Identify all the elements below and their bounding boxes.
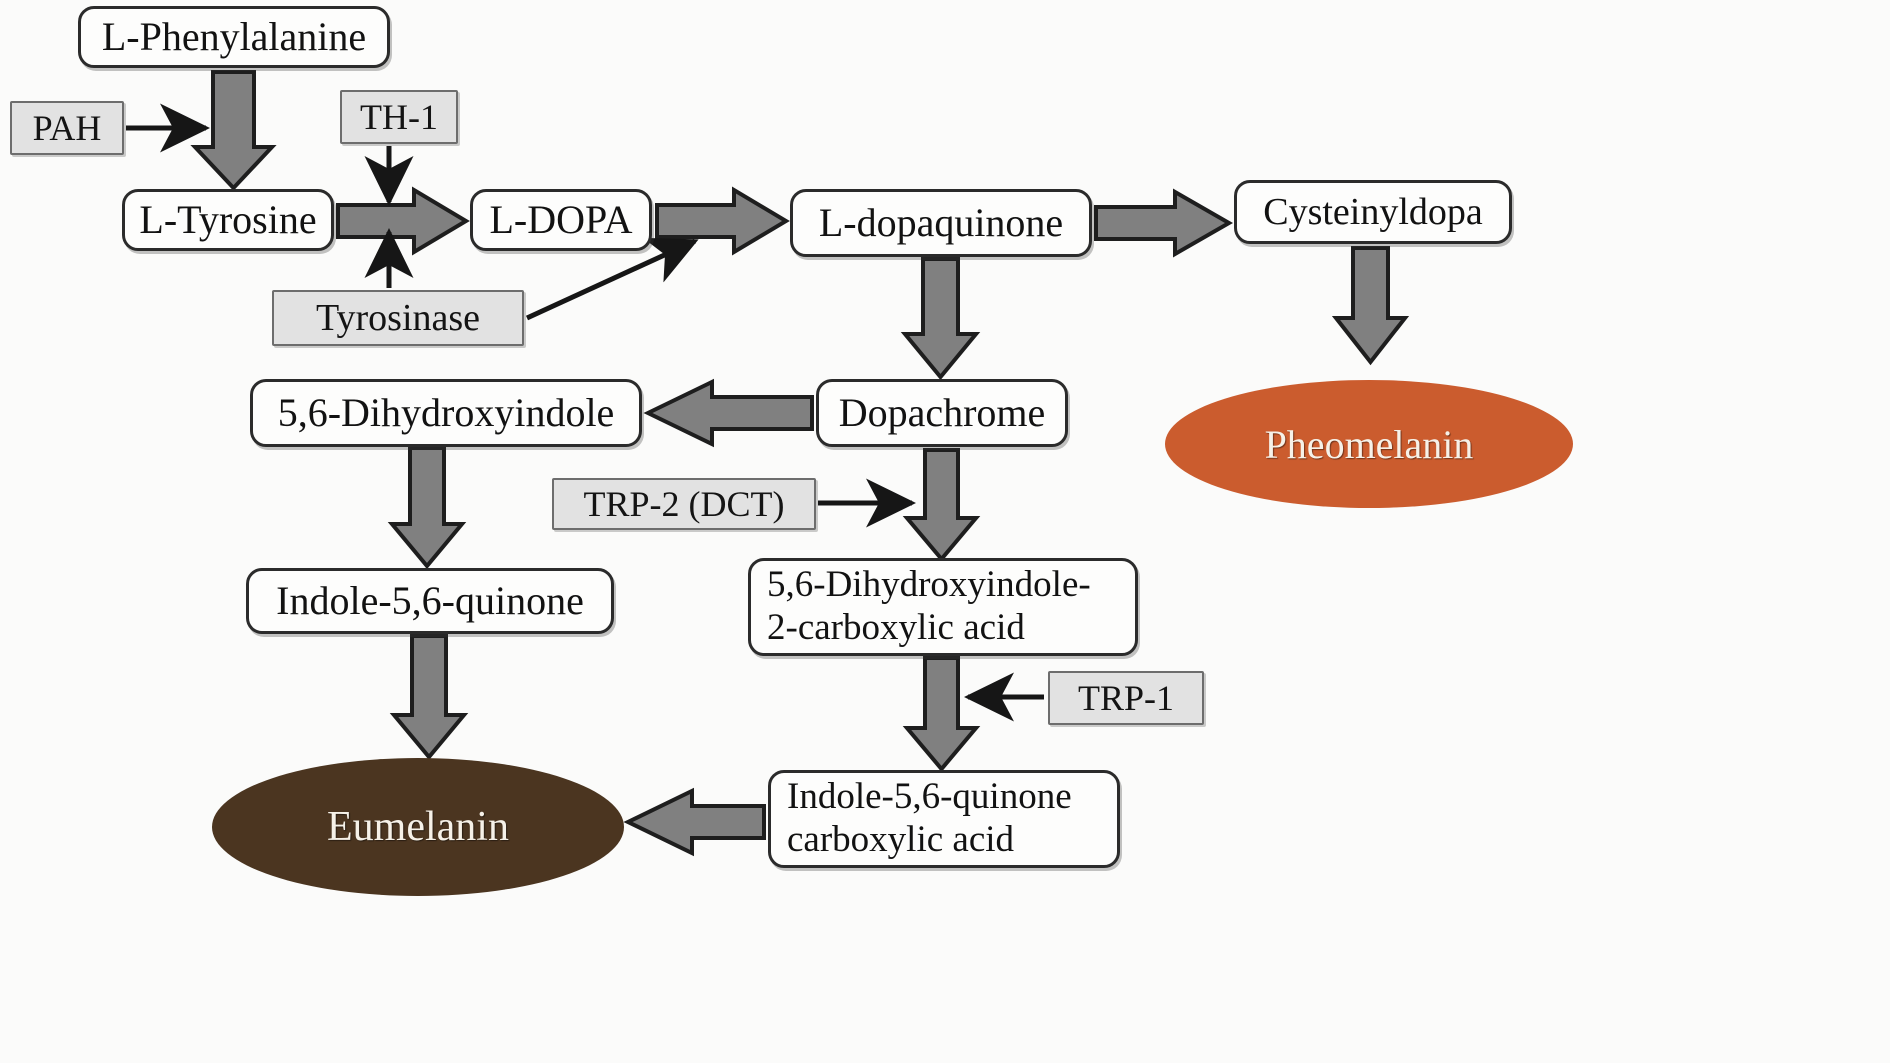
- node-l-phenylalanine[interactable]: L-Phenylalanine: [78, 6, 390, 68]
- arrow-layer: [0, 0, 1890, 1063]
- node-label: Indole-5,6-quinone: [276, 579, 584, 624]
- edge-dhi-to-iq: [392, 448, 462, 566]
- node-l-dopaquinone[interactable]: L-dopaquinone: [790, 189, 1092, 257]
- node-l-tyrosine[interactable]: L-Tyrosine: [122, 189, 334, 251]
- node-label: Dopachrome: [839, 391, 1046, 436]
- edge-phe-to-tyr: [195, 72, 272, 188]
- node-label: Indole-5,6-quinone carboxylic acid: [787, 776, 1072, 862]
- enzyme-label: TH-1: [360, 96, 438, 138]
- node-label: L-Phenylalanine: [102, 15, 366, 60]
- node-label: L-DOPA: [490, 198, 633, 243]
- edge-dopachrome-to-dhica: [907, 450, 976, 559]
- pigment-pheomelanin[interactable]: Pheomelanin: [1165, 380, 1573, 508]
- edge-iqca-to-eumelanin: [628, 791, 764, 853]
- enzyme-trp-1[interactable]: TRP-1: [1048, 671, 1204, 725]
- pigment-label: Pheomelanin: [1265, 421, 1474, 468]
- enzyme-label: TRP-2 (DCT): [584, 483, 785, 525]
- edge-tyrosinase-to-dopa-dq: [527, 241, 695, 318]
- enzyme-pah[interactable]: PAH: [10, 101, 124, 155]
- enzyme-label: Tyrosinase: [316, 296, 480, 340]
- edge-dopaquinone-to-dopachrome: [905, 259, 976, 377]
- pigment-label: Eumelanin: [327, 803, 509, 851]
- node-dhica[interactable]: 5,6-Dihydroxyindole- 2-carboxylic acid: [748, 558, 1138, 656]
- enzyme-th-1[interactable]: TH-1: [340, 90, 458, 144]
- pigment-eumelanin[interactable]: Eumelanin: [212, 758, 624, 896]
- node-label: L-dopaquinone: [819, 201, 1063, 246]
- node-indole-5-6-quinone[interactable]: Indole-5,6-quinone: [246, 568, 614, 634]
- pathway-diagram: L-Phenylalanine L-Tyrosine L-DOPA L-dopa…: [0, 0, 1890, 1063]
- edge-dopaquinone-to-cysdopa: [1096, 192, 1229, 254]
- enzyme-trp-2-dct[interactable]: TRP-2 (DCT): [552, 478, 816, 530]
- edge-iq-to-eumelanin: [394, 636, 464, 757]
- node-label: L-Tyrosine: [139, 198, 316, 243]
- node-cysteinyldopa[interactable]: Cysteinyldopa: [1234, 180, 1512, 244]
- edge-dopachrome-to-dhi: [648, 382, 812, 444]
- node-label: 5,6-Dihydroxyindole- 2-carboxylic acid: [767, 564, 1091, 650]
- edge-tyr-to-dopa: [338, 190, 466, 252]
- node-label: Cysteinyldopa: [1263, 191, 1483, 234]
- node-l-dopa[interactable]: L-DOPA: [470, 189, 652, 251]
- enzyme-label: TRP-1: [1078, 677, 1174, 719]
- node-dopachrome[interactable]: Dopachrome: [816, 379, 1068, 447]
- enzyme-tyrosinase[interactable]: Tyrosinase: [272, 290, 524, 346]
- node-5-6-dihydroxyindole[interactable]: 5,6-Dihydroxyindole: [250, 379, 642, 447]
- enzyme-label: PAH: [33, 107, 102, 149]
- node-label: 5,6-Dihydroxyindole: [278, 391, 615, 436]
- edge-cysdopa-to-pheomelanin: [1336, 248, 1405, 362]
- edge-dopa-to-dopaquinone: [657, 190, 786, 252]
- edge-dhica-to-iqca: [907, 658, 976, 769]
- node-iqca[interactable]: Indole-5,6-quinone carboxylic acid: [768, 770, 1120, 868]
